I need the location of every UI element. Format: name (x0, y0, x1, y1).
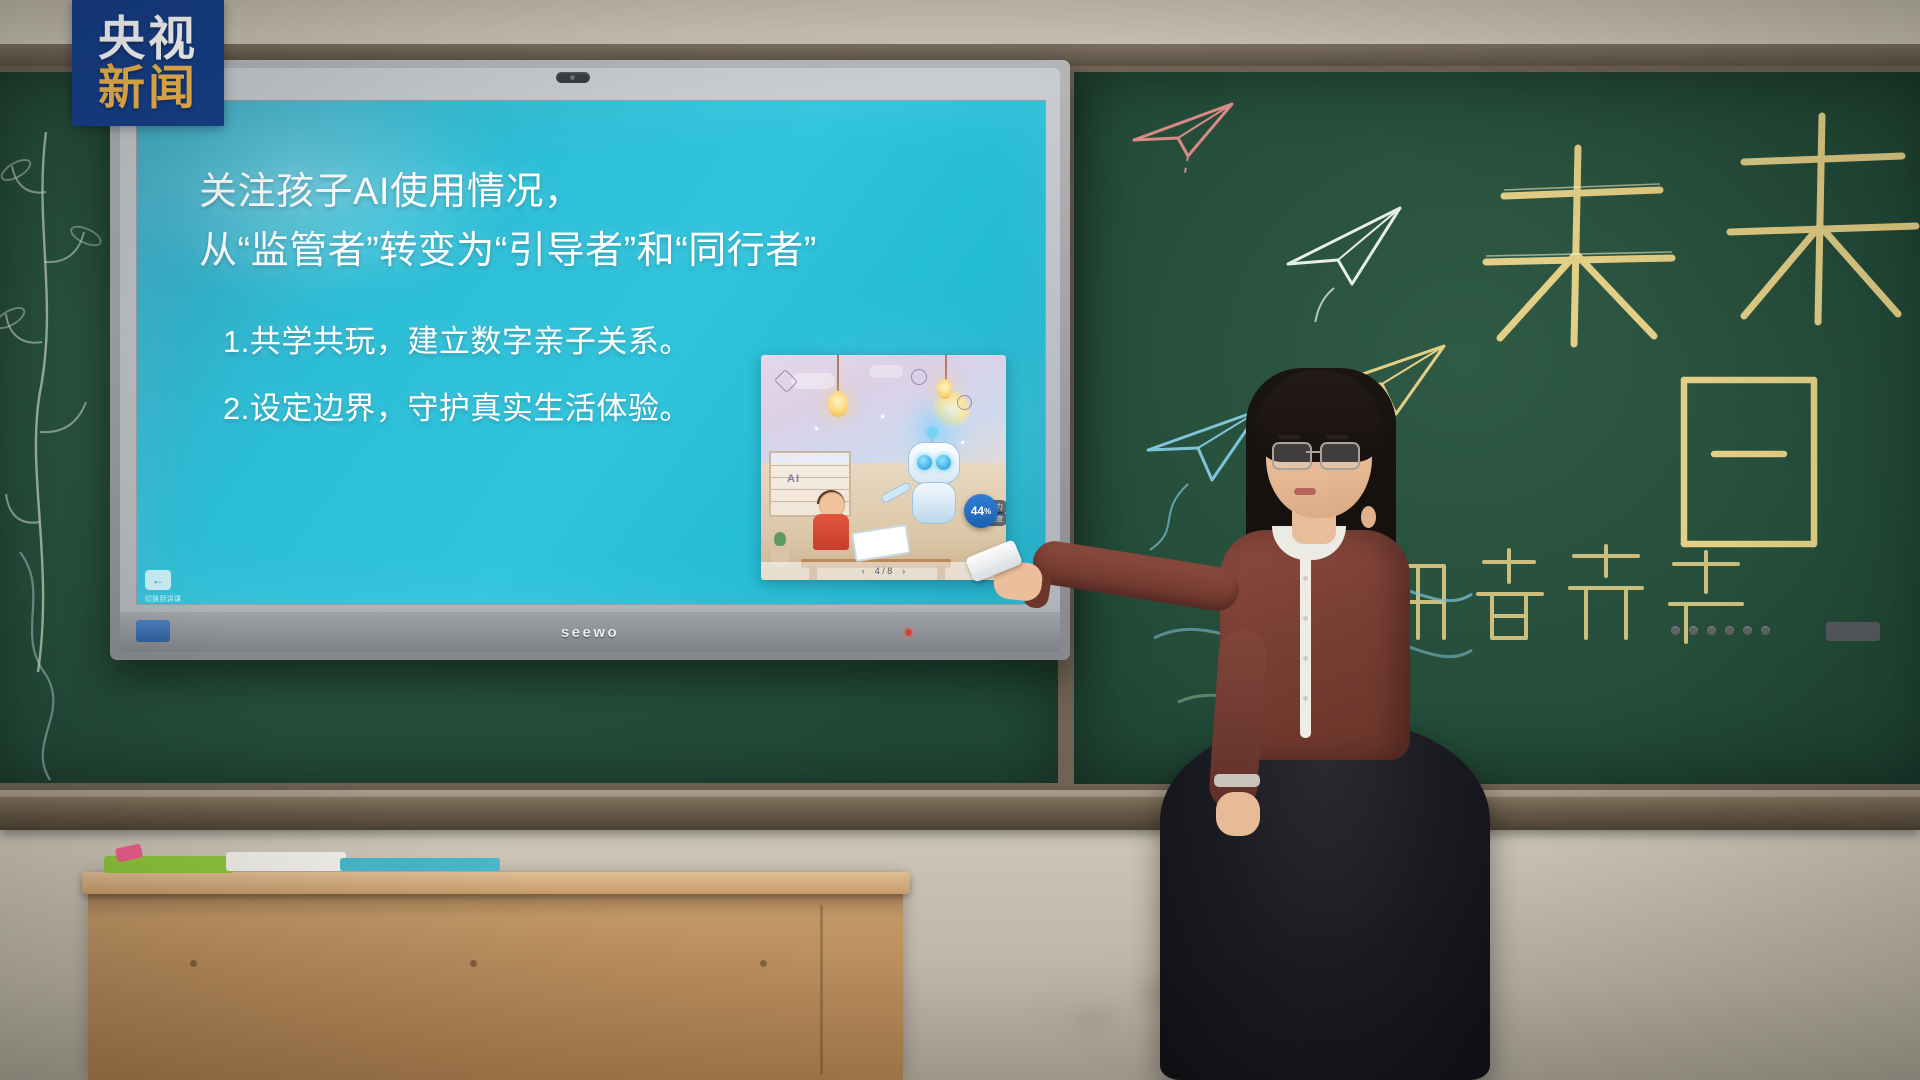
bulb-wire (945, 355, 947, 381)
slide-bullet-list: 1.共学共玩，建立数字亲子关系。 2.设定边界，守护真实生活体验。 (223, 309, 783, 442)
presentation-slide[interactable]: 关注孩子AI使用情况， 从“监管者”转变为“引导者”和“同行者” 1.共学共玩，… (137, 101, 1046, 605)
smartboard-badge (136, 620, 170, 642)
smartboard-chin: seewo (120, 612, 1060, 652)
presenter-hand-lowered (1216, 792, 1260, 836)
presenter (1180, 330, 1600, 1080)
blackboard-headline-char-1 (1464, 132, 1694, 362)
slide-bullet-item: 2.设定边界，守护真实生活体验。 (223, 376, 783, 443)
smartboard-port (1826, 622, 1880, 641)
screenshot-frame: 关注孩子AI使用情况， 从“监管者”转变为“引导者”和“同行者” 1.共学共玩，… (0, 0, 1920, 1080)
smartboard-camera-led (570, 75, 575, 80)
smartboard-button[interactable] (1743, 626, 1752, 635)
paper-plane-doodle-icon (1114, 82, 1254, 202)
slide-title-line-2: 从“监管者”转变为“引导者”和“同行者” (199, 222, 989, 281)
cloud-icon (791, 373, 835, 389)
cctv-news-logo: 央视 新闻 (72, 0, 224, 126)
badge-value: 44 (971, 504, 984, 518)
smartboard-button[interactable] (1671, 626, 1680, 635)
illustration-badge: 44 % (964, 494, 998, 528)
robot-icon (902, 442, 964, 538)
glasses-bridge (1306, 451, 1320, 453)
smartboard-screen[interactable]: 关注孩子AI使用情况， 从“监管者”转变为“引导者”和“同行者” 1.共学共玩，… (136, 100, 1046, 605)
blackboard-headline-char-3 (1664, 358, 1854, 568)
smartboard-power-led (905, 629, 912, 636)
logo-bottom-text: 新闻 (98, 64, 198, 111)
presenter-brow (1326, 435, 1348, 439)
podium-screw (190, 960, 197, 967)
podium-shadow (88, 894, 903, 918)
cyan-ruler (340, 858, 500, 871)
presenter-ear (1361, 506, 1376, 528)
chalk-rail (0, 790, 1920, 830)
wall-mark (1070, 1010, 1114, 1030)
child-body (813, 514, 849, 550)
bulb-wire (837, 355, 839, 393)
logo-top-text: 央视 (98, 15, 198, 62)
smartboard-button[interactable] (1725, 626, 1734, 635)
smartboard-button[interactable] (1761, 626, 1770, 635)
vine-doodle-icon (0, 132, 120, 692)
slide-bullet-item: 1.共学共玩，建立数字亲子关系。 (223, 309, 783, 376)
pager-prev-icon[interactable]: ‹ (862, 566, 865, 576)
wave-doodle-icon (10, 552, 110, 782)
cloud-icon (869, 365, 903, 378)
slide-back-button[interactable]: ← (145, 570, 171, 590)
paper-plane-doodle-icon (1274, 192, 1424, 322)
glasses-icon (1272, 442, 1312, 470)
podium-items (104, 846, 484, 876)
smartboard-button[interactable] (1689, 626, 1698, 635)
badge-unit: % (984, 507, 991, 516)
triangle-icon (774, 369, 798, 393)
seewo-brand-label: seewo (561, 624, 619, 641)
blackboard-headline-char-2 (1710, 106, 1920, 346)
podium-seam (820, 905, 823, 1075)
lightbulb-icon (937, 379, 952, 399)
presenter-brow (1278, 435, 1300, 439)
podium-screw (470, 960, 477, 967)
slide-title-line-1: 关注孩子AI使用情况， (199, 171, 582, 213)
illustration-ai-label: AI (787, 473, 800, 485)
podium-screw (760, 960, 767, 967)
presenter-mouth (1294, 488, 1316, 495)
slide-title: 关注孩子AI使用情况， 从“监管者”转变为“引导者”和“同行者” (199, 163, 989, 281)
slide-illustration: AI (761, 355, 1006, 580)
wristwatch-icon (1214, 774, 1260, 787)
smartboard-button[interactable] (1707, 626, 1716, 635)
pager-next-icon[interactable]: › (902, 566, 905, 576)
target-icon (911, 369, 927, 385)
glasses-icon (1320, 442, 1360, 470)
slide-back-label: 切换到讲课 (137, 594, 189, 604)
lightbulb-icon (828, 391, 848, 417)
white-paper (226, 852, 346, 871)
pager-text: 4 / 8 (875, 566, 893, 576)
smartboard-button-row[interactable] (1671, 626, 1770, 635)
